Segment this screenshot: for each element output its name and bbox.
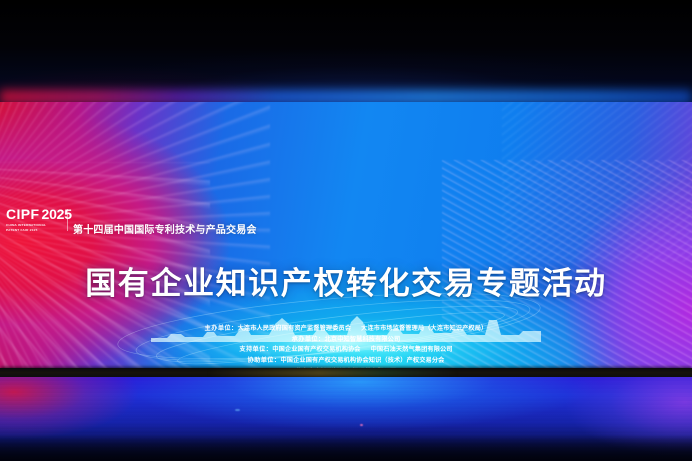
organizer-list: 主办单位：大连市人民政府国有资产监督管理委员会大连市市场监督管理局（大连市知识产… — [0, 324, 692, 370]
organizer-label: 支持单位： — [239, 346, 272, 353]
organizer-row: 支持单位：中国企业国有产权交易机构协会中国石油天然气集团有限公司 — [0, 345, 692, 356]
organizer-entity: 中国石油天然气集团有限公司 — [371, 346, 453, 353]
organizer-entity: 北京中知智慧科技有限公司 — [325, 336, 401, 343]
screen-bezel-warm-glow-decor — [208, 369, 457, 377]
organizer-row: 协助单位：中国企业国有产权交易机构协会知识（技术）产权交易分会 — [0, 356, 692, 367]
organizer-label: 主办单位： — [205, 325, 238, 332]
cipf-logo-subtitle-line1: CHINA INTERNATIONAL — [6, 223, 66, 227]
organizer-label: 承办单位： — [292, 336, 325, 343]
organizer-label: 协助单位： — [248, 357, 281, 364]
fair-name-text: 第十四届中国国际专利技术与产品交易会 — [73, 221, 257, 236]
cipf-logo-subtitle-line2: PATENT FAIR 2025 — [6, 228, 66, 232]
organizer-row: 主办单位：大连市人民政府国有资产监督管理委员会大连市市场监督管理局（大连市知识产… — [0, 324, 692, 335]
dark-hall-ceiling — [0, 0, 692, 104]
stage-scene: CIPF 2025 CHINA INTERNATIONAL PATENT FAI… — [0, 0, 692, 461]
event-headline: 国有企业知识产权转化交易专题活动 — [0, 268, 692, 301]
stage-floor-reflection — [0, 377, 692, 461]
organizer-entity: 中国企业国有产权交易机构协会 — [272, 346, 360, 353]
right-upper-streaks-decor — [502, 102, 692, 262]
floor-bottom-shadow-decor — [0, 435, 692, 461]
cipf-logo: CIPF 2025 CHINA INTERNATIONAL PATENT FAI… — [6, 207, 66, 237]
led-video-wall: CIPF 2025 CHINA INTERNATIONAL PATENT FAI… — [0, 102, 692, 370]
cipf-logo-acronym: CIPF — [6, 207, 40, 221]
logo-divider — [67, 209, 68, 231]
organizer-entity: 大连市市场监督管理局（大连市知识产权局） — [361, 325, 487, 332]
organizer-row: 承办单位：北京中知智慧科技有限公司 — [0, 335, 692, 346]
organizer-entity: 大连市人民政府国有资产监督管理委员会 — [238, 325, 352, 332]
organizer-entity: 中国企业国有产权交易机构协会知识（技术）产权交易分会 — [280, 357, 444, 364]
floor-light-speck-decor — [360, 424, 363, 426]
